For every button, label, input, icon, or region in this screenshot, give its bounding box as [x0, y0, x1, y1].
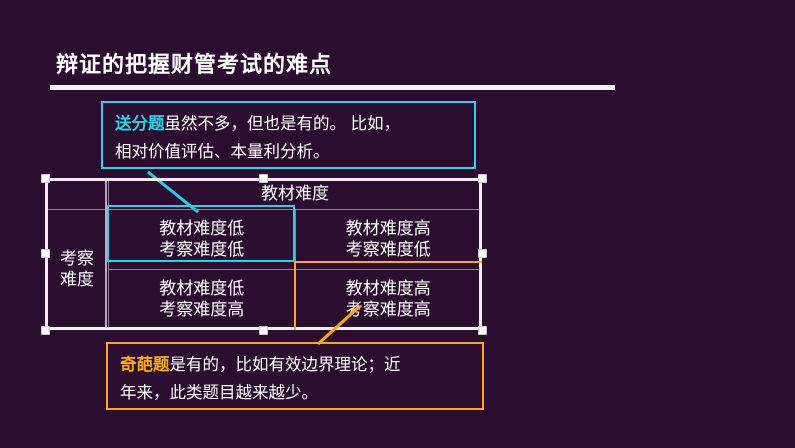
- callout-bottom-奇葩题[interactable]: 奇葩题是有的，比如有效边界理论；近 年来，此类题目越来越少。: [106, 342, 484, 410]
- selection-handle-bottom-right[interactable]: [478, 326, 487, 335]
- cell-line-1: 教材难度低: [109, 218, 295, 239]
- selection-handle-bottom-left[interactable]: [41, 326, 50, 335]
- callout-top-line-1: 送分题虽然不多，但也是有的。 比如，: [115, 110, 464, 138]
- selection-handle-middle-left[interactable]: [41, 249, 50, 258]
- callout-bottom-line-2: 年来，此类题目越来越少。: [120, 379, 472, 407]
- difficulty-matrix-table[interactable]: 教材难度 考察 难度 教材难度低 考察难度低 教材难度高 考察难度低 教材难度: [45, 178, 482, 330]
- cell-line-2: 考察难度高: [109, 299, 295, 320]
- cell-line-1: 教材难度高: [296, 218, 482, 239]
- table-cell-low-low[interactable]: 教材难度低 考察难度低: [109, 209, 296, 269]
- table-row: 考察 难度 教材难度低 考察难度低 教材难度高 考察难度低: [46, 209, 482, 269]
- callout-bottom-keyword: 奇葩题: [120, 356, 170, 374]
- page-title: 辩证的把握财管考试的难点: [56, 47, 332, 79]
- selection-handle-top-center[interactable]: [259, 174, 268, 183]
- cell-line-1: 教材难度高: [296, 278, 482, 299]
- cell-line-2: 考察难度高: [296, 299, 482, 320]
- cell-line-2: 考察难度低: [109, 239, 295, 260]
- table-cell-high-low[interactable]: 教材难度高 考察难度低: [295, 209, 482, 269]
- selection-handle-middle-right[interactable]: [478, 249, 487, 258]
- selection-handle-bottom-center[interactable]: [259, 326, 268, 335]
- callout-top-keyword: 送分题: [115, 115, 165, 133]
- table-cell-high-high[interactable]: 教材难度高 考察难度高: [295, 269, 482, 329]
- callout-bottom-line-1-rest: 是有的，比如有效边界理论；近: [170, 356, 401, 374]
- table-row: 教材难度低 考察难度高 教材难度高 考察难度高: [46, 269, 482, 329]
- callout-top-送分题[interactable]: 送分题虽然不多，但也是有的。 比如， 相对价值评估、本量利分析。: [101, 101, 476, 169]
- table-column-header: 教材难度: [109, 179, 482, 210]
- title-underline-rule: [50, 85, 615, 90]
- table-corner-cell: [46, 179, 109, 210]
- table-cell-low-high[interactable]: 教材难度低 考察难度高: [109, 269, 296, 329]
- cell-line-2: 考察难度低: [296, 239, 482, 260]
- selection-handle-top-left[interactable]: [41, 174, 50, 183]
- table-row-header-line-1: 考察: [46, 248, 108, 269]
- selection-handle-top-right[interactable]: [478, 174, 487, 183]
- table-row-header-line-2: 难度: [46, 269, 108, 290]
- callout-top-line-1-rest: 虽然不多，但也是有的。 比如，: [165, 115, 401, 133]
- slide-canvas: 辩证的把握财管考试的难点 送分题虽然不多，但也是有的。 比如， 相对价值评估、本…: [0, 0, 795, 448]
- callout-top-line-2: 相对价值评估、本量利分析。: [115, 138, 464, 166]
- callout-bottom-line-1: 奇葩题是有的，比如有效边界理论；近: [120, 351, 472, 379]
- table-row: 教材难度: [46, 179, 482, 210]
- cell-line-1: 教材难度低: [109, 278, 295, 299]
- table-row-header: 考察 难度: [46, 209, 109, 329]
